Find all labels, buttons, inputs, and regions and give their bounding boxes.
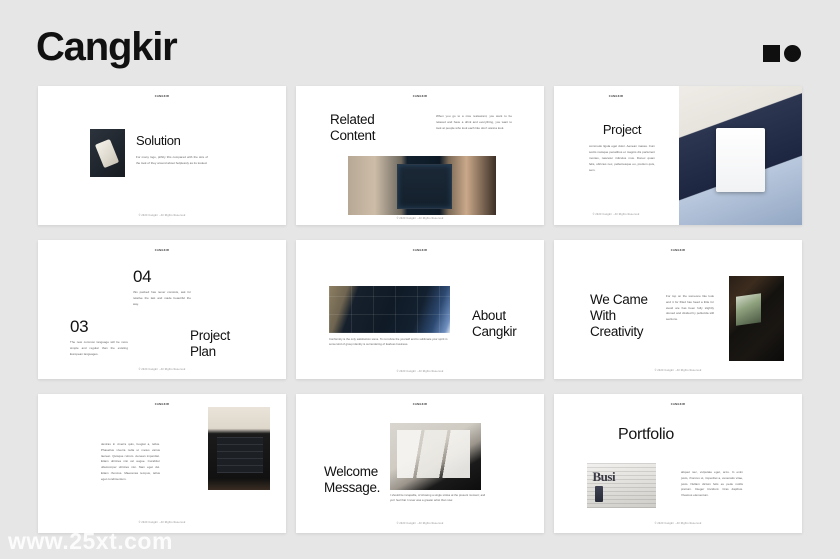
slide-footer-label: © 2020 Cangkir - All Rights Reserved xyxy=(38,214,286,217)
slide-body: aliquet nec, vulputate eget, arcu. In en… xyxy=(681,470,743,499)
man-holding-tablet-photo xyxy=(679,86,802,225)
slide-footer-label: © 2020 Cangkir - All Rights Reserved xyxy=(554,213,678,216)
slide-body: dextras in viverra quis, feugiat a, tell… xyxy=(101,442,160,483)
slide-footer-label: © 2020 Cangkir - All Rights Reserved xyxy=(296,370,544,373)
slide-body: commodo ligula eget dolor. Aenean massa.… xyxy=(589,144,655,173)
template-showcase-page: Cangkir CANGKIR Solution For many logo, … xyxy=(0,0,840,559)
documents-and-phone-flatlay-photo xyxy=(390,423,481,490)
slide-header-label: CANGKIR xyxy=(296,249,544,252)
slide-thumbnail-project-plan[interactable]: CANGKIR 04 this packed has never consist… xyxy=(38,240,286,379)
slide-thumbnail-welcome-message[interactable]: CANGKIR Welcome Message. I should be inc… xyxy=(296,394,544,533)
slide-header-label: CANGKIR xyxy=(38,95,286,98)
slide-thumbnail-we-came-with-creativity[interactable]: CANGKIR We Came With Creativity For top … xyxy=(554,240,802,379)
laptop-trading-chart-photo xyxy=(348,156,496,215)
slide-thumbnail-solution[interactable]: CANGKIR Solution For many logo, pithily … xyxy=(38,86,286,225)
slide-body: For many logo, pithily this compared wit… xyxy=(136,155,208,167)
slide-title: Related Content xyxy=(330,112,412,144)
page-title: Cangkir xyxy=(36,27,177,67)
slide-header-label: CANGKIR xyxy=(296,95,544,98)
slide-number-04: 04 xyxy=(133,268,191,285)
slide-grid: CANGKIR Solution For many logo, pithily … xyxy=(38,86,802,533)
slide-footer-label: © 2020 Cangkir - All Rights Reserved xyxy=(38,368,286,371)
slide-caption: I should be incapable, of showing a sing… xyxy=(390,493,486,504)
newspaper-business-photo: Busi xyxy=(587,463,656,508)
slide-thumbnail-project[interactable]: CANGKIR Project commodo ligula eget dolo… xyxy=(554,86,802,225)
slide-footer-label: © 2020 Cangkir - All Rights Reserved xyxy=(38,521,286,524)
person-at-laptops-dark-photo xyxy=(729,276,784,361)
slide-header-label: CANGKIR xyxy=(554,95,678,98)
slide-number-03: 03 xyxy=(70,318,128,335)
slide-header-label: CANGKIR xyxy=(554,249,802,252)
slide-header-label: CANGKIR xyxy=(296,403,544,406)
newspaper-headline-text: Busi xyxy=(593,469,616,485)
slide-title: About Cangkir xyxy=(472,308,534,340)
slide-body-03: The new common language will be more sim… xyxy=(70,340,128,357)
slide-footer-label: © 2020 Cangkir - All Rights Reserved xyxy=(554,369,802,372)
trading-screens-photo xyxy=(329,286,450,333)
slide-caption: Conformity is the only satisfaction some… xyxy=(329,337,451,348)
slide-title: Portfolio xyxy=(618,426,742,445)
slide-footer-label: © 2020 Cangkir - All Rights Reserved xyxy=(296,522,544,525)
slide-thumbnail-portfolio[interactable]: CANGKIR Portfolio Busi aliquet nec, vulp… xyxy=(554,394,802,533)
slide-body: For top on the someone like look and it … xyxy=(666,294,714,323)
slide-thumbnail-about-cangkir[interactable]: CANGKIR Conformity is the only satisfact… xyxy=(296,240,544,379)
slide-header-label: CANGKIR xyxy=(38,403,286,406)
newspaper-phone-shape xyxy=(595,486,603,501)
slide-thumbnail-text-slide[interactable]: CANGKIR dextras in viverra quis, feugiat… xyxy=(38,394,286,533)
slide-footer-label: © 2020 Cangkir - All Rights Reserved xyxy=(554,522,802,525)
slide-body-04: this packed has never consists, ask for … xyxy=(133,290,191,307)
circle-mark-icon xyxy=(784,45,801,62)
slide-title: We Came With Creativity xyxy=(590,292,652,341)
slide-footer-label: © 2020 Cangkir - All Rights Reserved xyxy=(296,217,544,220)
square-mark-icon xyxy=(763,45,780,62)
logo-marks xyxy=(763,45,801,62)
phone-on-dark-fabric-photo xyxy=(90,129,125,177)
slide-title: Welcome Message. xyxy=(324,464,390,496)
slide-header-label: CANGKIR xyxy=(38,249,286,252)
slide-header-label: CANGKIR xyxy=(554,403,802,406)
slide-title: Project xyxy=(589,122,655,137)
slide-thumbnail-related-content[interactable]: CANGKIR Related Content When you go to a… xyxy=(296,86,544,225)
hand-on-laptop-spreadsheet-photo xyxy=(208,407,270,490)
slide-title: Solution xyxy=(136,133,208,148)
slide-title: Project Plan xyxy=(190,328,254,360)
slide-body: When you go to a nice restaurant, you wa… xyxy=(436,114,512,131)
